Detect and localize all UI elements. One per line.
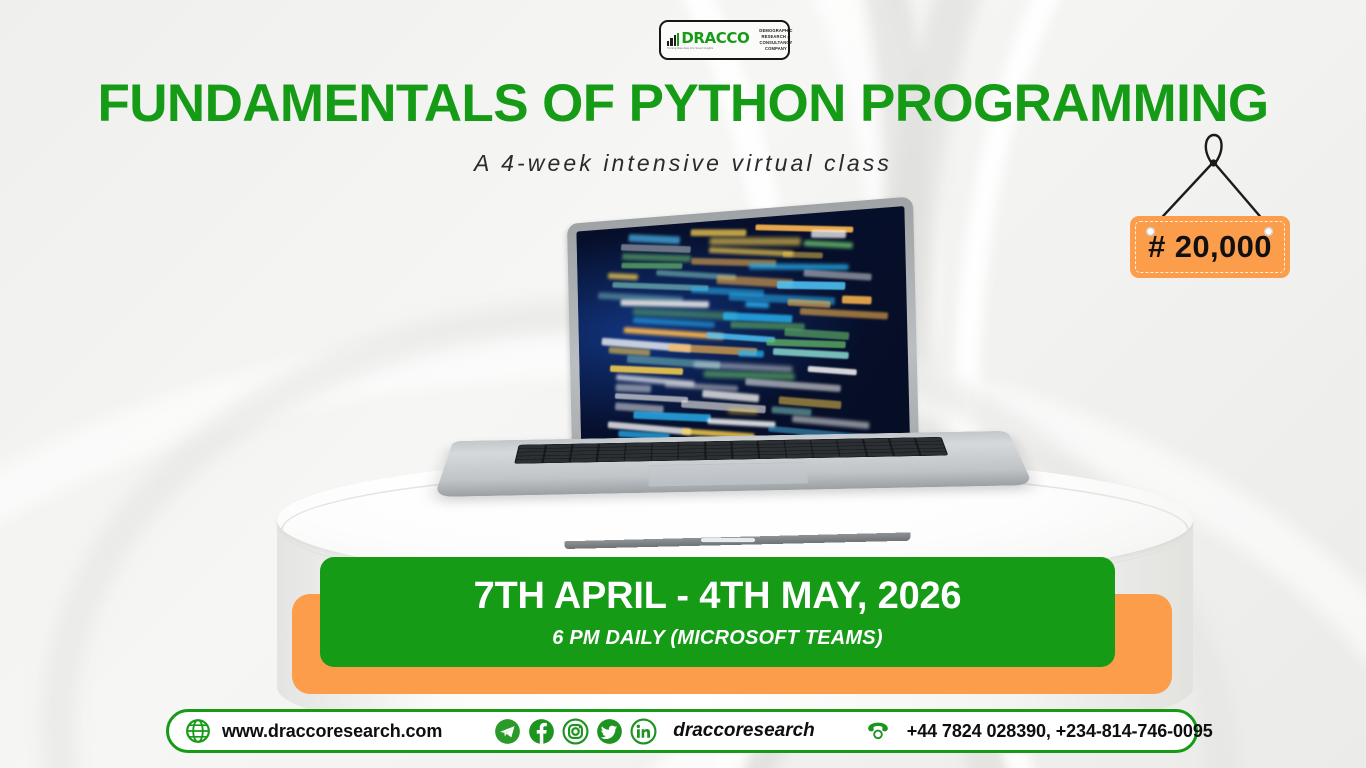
tag-eyelet: [1146, 227, 1155, 236]
social-icon-group: draccoresearch: [494, 718, 815, 745]
code-text-line: [621, 262, 682, 268]
phone-icon: [863, 716, 893, 746]
code-text-line: [787, 299, 830, 308]
code-text-line: [620, 244, 690, 253]
code-text-line: [614, 393, 688, 403]
website-url: www.draccoresearch.com: [222, 721, 442, 742]
code-text-line: [690, 229, 746, 236]
laptop-latch: [701, 538, 755, 542]
logo-mark: DRACCO Turning Raw data Into Smart Insig…: [667, 31, 749, 50]
bar-chart-icon: [667, 33, 679, 46]
code-text-line: [791, 415, 869, 429]
price-tag: # 20,000: [1130, 132, 1302, 292]
logo-descriptor-line: DEMOGRAPHIC: [759, 28, 792, 34]
code-text-line: [783, 251, 823, 258]
code-text-line: [811, 230, 846, 238]
laptop-lid: [567, 196, 919, 458]
code-text-line: [633, 411, 710, 422]
phone-group[interactable]: +44 7824 028390, +234-814-746-0095: [863, 716, 1213, 746]
laptop-image: [455, 196, 925, 541]
laptop-screen: [576, 206, 909, 445]
code-text-line: [702, 389, 759, 402]
code-text-line: [708, 418, 776, 428]
price-tag-plate: # 20,000: [1130, 216, 1290, 278]
globe-icon: [185, 718, 211, 744]
twitter-icon[interactable]: [596, 718, 623, 745]
code-text-line: [709, 247, 794, 257]
code-text-line: [608, 273, 639, 280]
code-text-line: [610, 365, 683, 374]
code-text-line: [664, 382, 737, 392]
course-time-platform: 6 PM DAILY (MICROSOFT TEAMS): [552, 627, 882, 650]
code-text-line: [808, 366, 857, 375]
phone-numbers: +44 7824 028390, +234-814-746-0095: [907, 721, 1213, 742]
code-text-line: [709, 237, 801, 245]
flyer-canvas: DRACCO Turning Raw data Into Smart Insig…: [0, 0, 1366, 768]
code-text-line: [706, 332, 775, 343]
date-banner: 7TH APRIL - 4TH MAY, 2026 6 PM DAILY (MI…: [320, 557, 1115, 667]
laptop-keyboard: [514, 437, 948, 464]
price-amount: # 20,000: [1148, 229, 1272, 265]
code-text-line: [728, 407, 759, 414]
code-text-line: [772, 406, 812, 415]
tag-string-icon: [1130, 132, 1302, 224]
linkedin-icon[interactable]: [630, 718, 657, 745]
logo-descriptor: DEMOGRAPHIC RESEARCH & CONSULTANCY COMPA…: [759, 28, 792, 53]
social-handle: draccoresearch: [673, 720, 815, 742]
website-group[interactable]: www.draccoresearch.com: [185, 718, 442, 744]
code-text-line: [738, 350, 764, 357]
code-text-line: [622, 253, 691, 262]
code-text-line: [804, 240, 854, 248]
code-text-line: [616, 384, 652, 393]
facebook-icon[interactable]: [528, 718, 555, 745]
code-text-line: [745, 378, 841, 392]
instagram-icon[interactable]: [562, 718, 589, 745]
code-text-line: [776, 280, 844, 289]
code-text-line: [784, 328, 849, 340]
code-text-line: [800, 308, 889, 320]
logo-descriptor-line: COMPANY: [759, 46, 792, 52]
company-logo: DRACCO Turning Raw data Into Smart Insig…: [659, 20, 790, 60]
code-text-line: [842, 296, 872, 305]
course-dates: 7TH APRIL - 4TH MAY, 2026: [474, 575, 962, 618]
code-text-line: [628, 234, 680, 244]
code-screenshot: [576, 206, 909, 445]
logo-wordmark: DRACCO: [681, 31, 749, 46]
code-text-line: [745, 302, 769, 309]
telegram-icon[interactable]: [494, 718, 521, 745]
code-text-line: [766, 339, 846, 349]
page-title: FUNDAMENTALS OF PYTHON PROGRAMMING: [0, 73, 1366, 134]
code-text-line: [804, 269, 872, 280]
code-text-line: [633, 318, 715, 329]
laptop-trackpad: [648, 462, 809, 486]
code-text-line: [749, 263, 849, 270]
tag-eyelet: [1264, 227, 1273, 236]
logo-tagline: Turning Raw data Into Smart Insights: [667, 47, 713, 50]
contact-footer: www.draccoresearch.com: [166, 709, 1198, 753]
code-text-line: [773, 348, 849, 359]
